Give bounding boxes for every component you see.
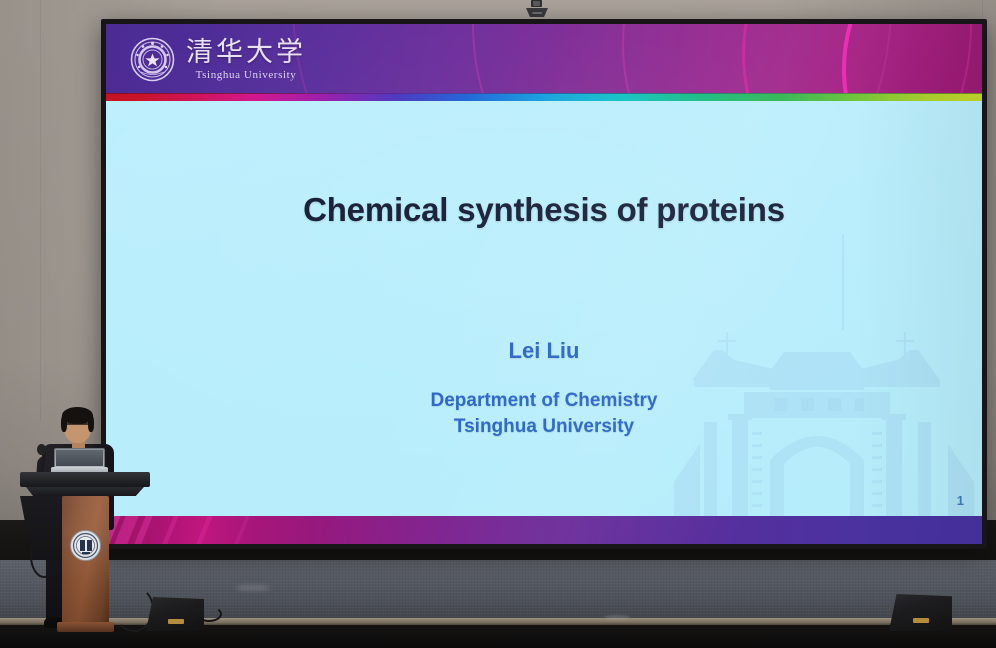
projection-screen: 清华大学 Tsinghua University (101, 19, 987, 549)
slide-header-band: 清华大学 Tsinghua University (106, 24, 982, 94)
stage-monitor-right (889, 594, 952, 631)
conference-hall-scene: 清华大学 Tsinghua University (0, 0, 996, 648)
floor-highlight (236, 585, 270, 591)
ceiling-camera-icon (524, 0, 550, 20)
podium-shelf (26, 487, 144, 496)
monitor-brand-badge (913, 618, 929, 623)
tsinghua-seal-icon (130, 37, 175, 82)
audio-cable (30, 534, 58, 578)
podium-base (57, 622, 114, 632)
monitor-brand-badge (168, 619, 184, 624)
tsinghua-logo: 清华大学 Tsinghua University (130, 37, 306, 82)
floor-highlight (604, 615, 630, 620)
tsinghua-wordmark: 清华大学 Tsinghua University (186, 39, 306, 81)
slide-footer-band (106, 516, 982, 544)
presenter-name: Lei Liu (106, 338, 982, 364)
slide-surface: 清华大学 Tsinghua University (106, 24, 982, 544)
footer-streak (234, 516, 249, 544)
presenter-department: Department of Chemistry (106, 388, 982, 414)
logo-english-name: Tsinghua University (196, 69, 297, 81)
laptop-screen[interactable] (56, 450, 103, 466)
university-crest-icon (70, 530, 101, 561)
rainbow-divider-strip (106, 94, 982, 101)
monitor-cable (196, 606, 222, 622)
monitor-body (889, 594, 952, 631)
wall-seam (40, 0, 41, 420)
presenter-glasses (65, 423, 90, 429)
decorative-arc (292, 24, 892, 94)
footer-streak (196, 516, 212, 544)
logo-chinese-name: 清华大学 (186, 39, 306, 66)
slide-title: Chemical synthesis of proteins (106, 191, 982, 229)
slide-number: 1 (957, 493, 964, 508)
slide-content-area: Chemical synthesis of proteins Lei Liu D… (106, 101, 982, 516)
podium-top-surface (20, 472, 150, 487)
presenter-info: Lei Liu Department of Chemistry Tsinghua… (106, 338, 982, 439)
presenter-university: Tsinghua University (106, 414, 982, 440)
microphone-icon (37, 444, 46, 455)
